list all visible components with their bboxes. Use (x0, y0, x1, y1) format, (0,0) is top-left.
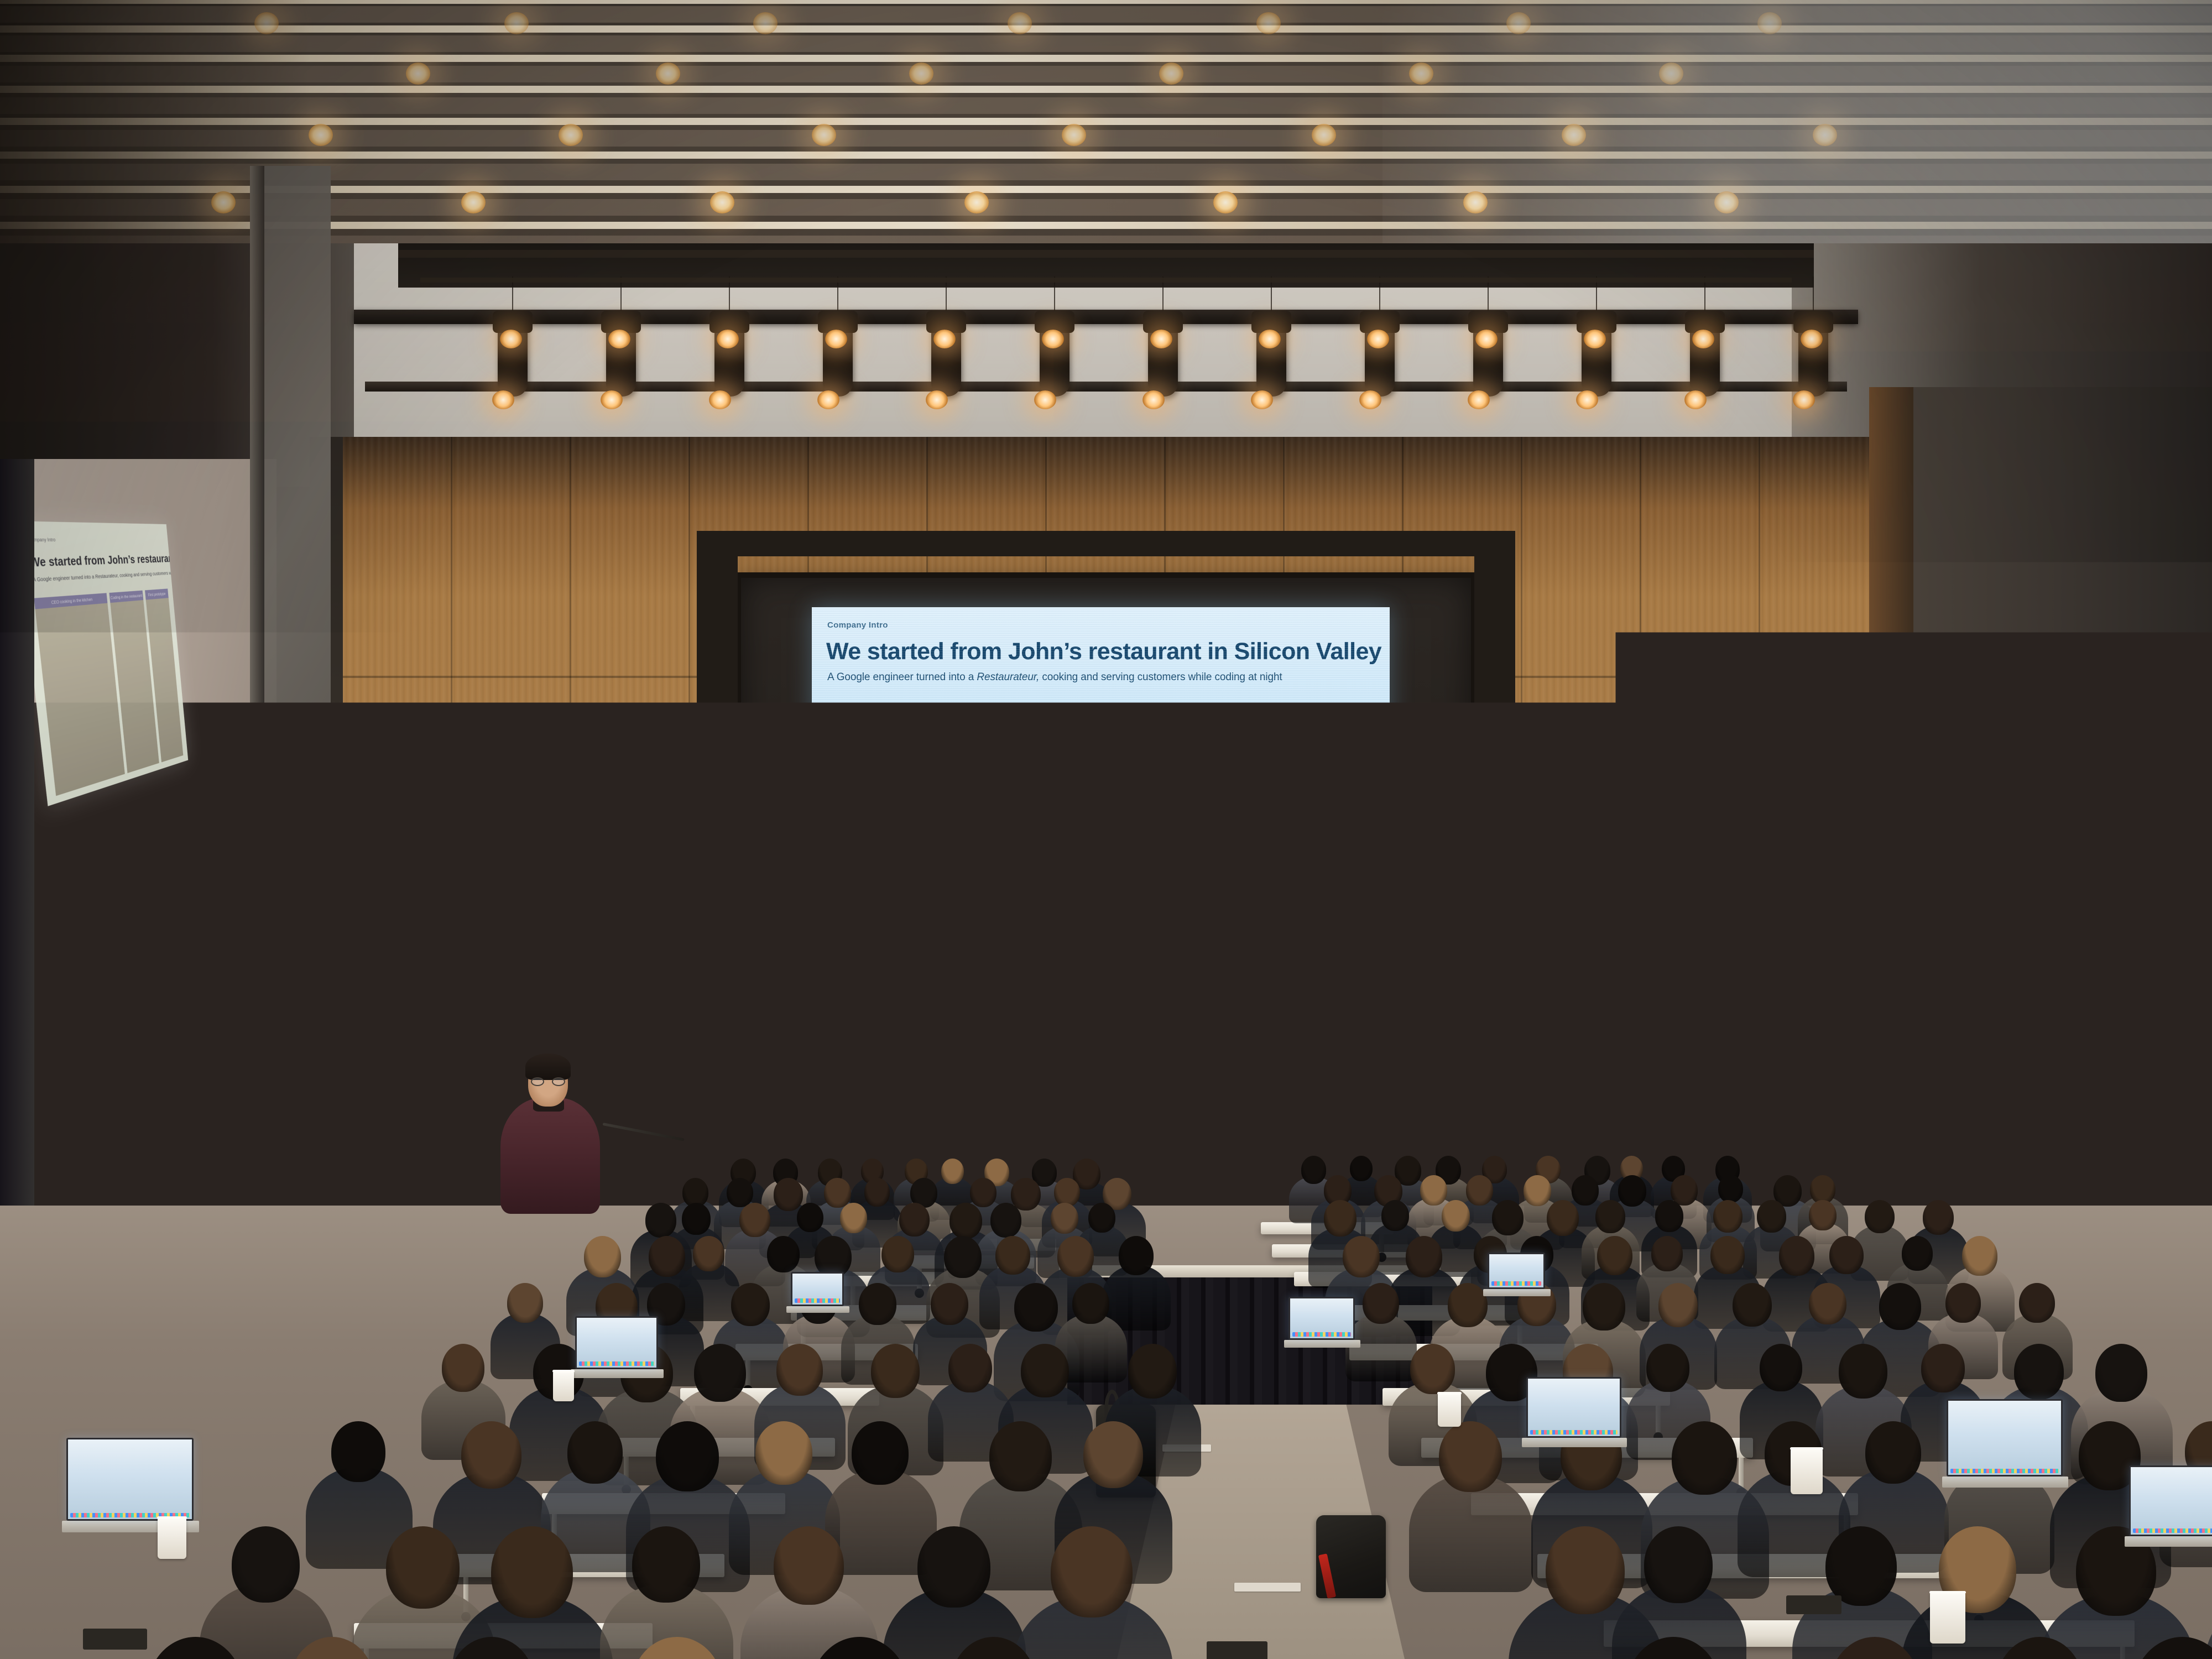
truss-wash-light (1259, 330, 1281, 348)
ceiling-downlight (1062, 124, 1086, 146)
audience-head (1363, 1283, 1399, 1324)
subtitle-part-1: A Google engineer turned into a (827, 671, 977, 683)
audience-head (1962, 1236, 1997, 1276)
photo-coding-restaurant: Robot Engineer CTO (1099, 729, 1248, 950)
truss-wash-light (825, 330, 847, 348)
audience-laptop[interactable] (1947, 1399, 2063, 1477)
audience-head (2132, 1637, 2212, 1659)
audience-head (774, 1526, 844, 1605)
truss-front-wash-light (817, 390, 839, 409)
audience-head (1809, 1200, 1836, 1230)
slide-content: Company Intro We started from John’s res… (812, 607, 1390, 950)
audience-head (1057, 1236, 1094, 1277)
laptop-base (1483, 1289, 1551, 1296)
audience-laptop[interactable] (1488, 1253, 1545, 1289)
audience-head (1825, 1526, 1897, 1606)
laptop-base (2125, 1536, 2212, 1547)
audience-head (1865, 1200, 1895, 1233)
ceiling-slat (0, 6, 2212, 23)
photo-ceo-cooking (826, 729, 1092, 950)
ceiling (0, 0, 2212, 260)
room-status-chip (2100, 1133, 2117, 1140)
ceiling-downlight (461, 191, 486, 213)
audience-head (989, 1421, 1052, 1491)
presentation-screen[interactable]: Company Intro We started from John’s res… (812, 607, 1390, 950)
audience-head (631, 1637, 723, 1659)
smartphone[interactable] (1207, 1641, 1267, 1659)
audience-head (948, 1344, 992, 1392)
truss-front-wash-light (1359, 390, 1381, 409)
audience-head (232, 1526, 300, 1603)
audience-head (1713, 1200, 1743, 1233)
audience-head (331, 1421, 386, 1482)
left-glass-pane (264, 166, 331, 1217)
audience-head (1324, 1200, 1357, 1237)
audience-head (1119, 1236, 1154, 1275)
audience-head (951, 1637, 1036, 1659)
audience-head (1718, 1175, 1743, 1203)
audience-head (1088, 1203, 1115, 1233)
audience-head (1651, 1236, 1683, 1271)
audience-head (776, 1344, 823, 1396)
photo-first-prototype (1255, 729, 1378, 950)
audience-laptop[interactable] (1288, 1297, 1355, 1340)
paper-coffee-cup (1791, 1449, 1823, 1494)
audience-head (2019, 1283, 2055, 1323)
truss-front-wash-light (1034, 390, 1056, 409)
audience-head (1051, 1203, 1078, 1234)
audience-head (731, 1283, 770, 1326)
laptop-base (571, 1369, 664, 1378)
truss-wash-light (1692, 330, 1714, 348)
truss-wash-light (1042, 330, 1064, 348)
laptop-base (1942, 1477, 2068, 1488)
audience-head (944, 1236, 982, 1278)
ceiling-slat (0, 186, 2212, 193)
audience-head (2095, 1344, 2147, 1402)
ceiling-downlight (406, 62, 430, 85)
audience-head (1672, 1421, 1738, 1495)
speaker-torso (500, 1098, 600, 1214)
warning-triangle-icon (1332, 1026, 1342, 1035)
truss-front-wash-light (1793, 390, 1815, 409)
truss-front-wash-light (1468, 390, 1490, 409)
audience-head (859, 1283, 896, 1325)
truss-front-wash-light (1576, 390, 1598, 409)
audience-member (248, 1637, 417, 1659)
audience-head (386, 1526, 460, 1609)
audience-head (1439, 1421, 1502, 1492)
truss-front-wash-light (926, 390, 948, 409)
audience-head (1829, 1637, 1920, 1659)
ceiling-slat (0, 55, 2212, 62)
laptop-base (786, 1306, 849, 1313)
audience-head (1760, 1344, 1802, 1391)
audience-head (1921, 1344, 1965, 1392)
ceiling-downlight (1409, 62, 1433, 85)
audience-head (1083, 1421, 1144, 1488)
audience-head (584, 1236, 621, 1277)
ceiling-slat (0, 222, 2212, 229)
audience-head (491, 1526, 573, 1618)
slide-subtitle: A Google engineer turned into a Restaura… (827, 671, 1379, 684)
audience-head (1733, 1283, 1772, 1327)
audience-head (461, 1421, 521, 1489)
audience-head (1448, 1283, 1487, 1327)
audience-head (1644, 1526, 1713, 1603)
audience-laptop[interactable] (2129, 1465, 2212, 1536)
smartphone[interactable] (1786, 1595, 1841, 1614)
smartphone[interactable] (83, 1629, 147, 1650)
audience-head (1655, 1200, 1684, 1232)
audience-head (1923, 1200, 1954, 1235)
lighting-truss-bar (354, 310, 1858, 324)
ceiling-downlight (1213, 191, 1238, 213)
ceiling-slat (0, 152, 2212, 159)
network-issue-badge: Network issue (1328, 1023, 1418, 1039)
audience-laptop[interactable] (66, 1438, 194, 1521)
subtitle-part-2: cooking and serving customers while codi… (1039, 671, 1282, 683)
audience-head (840, 1203, 867, 1233)
audience-head (682, 1203, 711, 1235)
audience-head (990, 1203, 1021, 1238)
truss-wash-light (1584, 330, 1606, 348)
truss-wash-light (1150, 330, 1172, 348)
audience-head (1547, 1200, 1579, 1236)
ceiling-downlight (909, 62, 933, 85)
ceiling-dark-beam (398, 250, 1814, 258)
slide-panel-coding-restaurant: Coding in the restaurant Robot Engineer … (1099, 708, 1248, 950)
ceiling-slat (0, 118, 2212, 125)
truss-front-wash-light (1142, 390, 1165, 409)
slide-title: We started from John’s restaurant in Sil… (826, 638, 1379, 665)
ceiling-dark-beam (420, 278, 1792, 283)
ceiling-slat (0, 25, 2212, 33)
audience-head (1343, 1236, 1380, 1277)
truss-wash-light (1801, 330, 1823, 348)
audience-head (1996, 1637, 2084, 1659)
ceiling-downlight (1463, 191, 1488, 213)
stage-left-equipment-alcove (325, 1034, 469, 1217)
ceiling-downlight (1008, 12, 1032, 34)
audience-head (1829, 1236, 1864, 1274)
wood-panel-seam (1759, 437, 1760, 1233)
led-wall-recess-frame (697, 531, 738, 1067)
auditorium-scene: Company Intro We started from John’s res… (0, 0, 2212, 1659)
audience-laptop[interactable] (1526, 1377, 1621, 1438)
audience-head (1492, 1200, 1524, 1235)
wood-panel-seam (688, 437, 690, 1233)
audience-head (507, 1283, 542, 1323)
audience-head (1410, 1344, 1455, 1394)
wood-panel-seam (1640, 437, 1641, 1233)
ceiling-downlight (964, 191, 989, 213)
ceiling-downlight (1159, 62, 1183, 85)
truss-wash-light (717, 330, 739, 348)
slide-panel-ceo-cooking: CEO cooking in the kitchen (826, 708, 1092, 950)
ceiling-downlight (656, 62, 680, 85)
panel-caption-3: First prototype (1255, 708, 1378, 729)
ceiling-downlight (710, 191, 734, 213)
truss-wash-light (933, 330, 956, 348)
audience-laptop[interactable] (791, 1272, 844, 1306)
audience-head (1014, 1283, 1058, 1332)
ceiling-downlight (1562, 124, 1586, 146)
audience-head (289, 1637, 375, 1659)
left-glass-mullion (250, 166, 264, 1217)
ceiling-downlight (812, 124, 836, 146)
ceiling-slat (0, 66, 2212, 82)
audience-head (1021, 1344, 1069, 1397)
ceiling-downlight (1312, 124, 1336, 146)
audience-head (1072, 1283, 1109, 1324)
audience-member (910, 1637, 1078, 1659)
paper-coffee-cup (158, 1518, 186, 1559)
audience-head (567, 1421, 623, 1484)
ceiling-downlight (1714, 191, 1739, 213)
wood-panel-seam (1521, 437, 1522, 1233)
side-panel-1: CEO cooking in the kitchen (34, 593, 124, 796)
ceiling-downlight (559, 124, 583, 146)
audience-head (1583, 1283, 1625, 1331)
audience-head (147, 1637, 244, 1659)
truss-front-wash-light (492, 390, 514, 409)
audience-head (1865, 1421, 1921, 1484)
audience-head (1051, 1526, 1133, 1618)
laptop-base (1522, 1438, 1627, 1447)
ceiling-downlight (1506, 12, 1531, 34)
audience-head (1839, 1344, 1888, 1399)
audience-head (442, 1344, 484, 1392)
ceiling-downlight (504, 12, 529, 34)
audience-head (852, 1421, 909, 1485)
audience-head (1595, 1200, 1625, 1233)
audience-head (1597, 1236, 1632, 1275)
exterior-window (1870, 968, 1936, 1189)
ceiling-slat (0, 35, 2212, 52)
audience-head (1757, 1200, 1786, 1233)
audience-head (1902, 1236, 1933, 1271)
audience-head (1658, 1283, 1698, 1327)
audience-head (1381, 1200, 1409, 1231)
floor-cable-cover-2 (1234, 1583, 1301, 1592)
audience-head (755, 1421, 812, 1485)
audience-member (2085, 1637, 2212, 1659)
ceiling-slat (0, 0, 2212, 4)
audience-member (588, 1637, 768, 1659)
truss-wash-light (608, 330, 630, 348)
audience-head (1809, 1283, 1846, 1324)
audience-head (1646, 1344, 1689, 1392)
audience-head (693, 1236, 724, 1271)
panel-caption-2: Coding in the restaurant (1099, 708, 1248, 729)
audience-head (1879, 1283, 1921, 1330)
window-blind (1870, 968, 1936, 1092)
led-wall-recess-frame (1474, 531, 1515, 1067)
truss-cable (1813, 276, 1814, 311)
slide-eyebrow: Company Intro (827, 620, 888, 630)
audience-head (739, 1203, 770, 1237)
audience-head (1810, 1175, 1835, 1204)
left-wall-dark-column (0, 459, 34, 1233)
ceiling-slat (0, 86, 2212, 93)
side-slide-title: We started from John’s restaurant in Sil… (29, 552, 167, 570)
truss-wash-light (500, 330, 522, 348)
photo-label-robot-engineer: Robot Engineer (1191, 890, 1217, 912)
audience-head (917, 1526, 990, 1608)
ceiling-downlight (309, 124, 333, 146)
truss-front-wash-light (1684, 390, 1707, 409)
paper-coffee-cup (1438, 1394, 1461, 1427)
ceiling-slat (0, 97, 2212, 114)
truss-front-wash-light (601, 390, 623, 409)
ceiling-slat (0, 164, 2212, 180)
audience-head (2014, 1344, 2064, 1400)
audience-head (767, 1236, 800, 1272)
audience-head (881, 1236, 914, 1272)
audience-head (931, 1283, 968, 1325)
audience-head (656, 1421, 719, 1491)
audience-head (810, 1637, 909, 1659)
speaker-hair (525, 1053, 571, 1080)
speaker-glasses-icon (531, 1077, 565, 1086)
network-issue-label: Network issue (1344, 1025, 1413, 1037)
audience-laptop[interactable] (575, 1316, 658, 1369)
ceiling-downlight (1256, 12, 1281, 34)
ceiling-downlight (1757, 12, 1782, 34)
audience-head (1945, 1283, 1981, 1323)
audience-head (1626, 1637, 1721, 1659)
audience-head (899, 1203, 930, 1237)
audience-head (1710, 1236, 1745, 1274)
audience-head (871, 1344, 920, 1398)
paper-coffee-cup (1930, 1593, 1965, 1644)
truss-wash-light (1475, 330, 1498, 348)
audience-head (1128, 1344, 1177, 1399)
audience-head (632, 1526, 700, 1603)
exterior-building (1878, 1096, 1928, 1189)
truss-front-wash-light (1251, 390, 1273, 409)
laptop-base (1284, 1340, 1360, 1348)
audience-head (694, 1344, 746, 1402)
audience-head (1406, 1236, 1443, 1277)
audience-head (995, 1236, 1030, 1275)
ceiling-downlight (1659, 62, 1683, 85)
audience-head (448, 1637, 535, 1659)
panel-caption-1: CEO cooking in the kitchen (826, 708, 1092, 729)
room-schedule-panel[interactable] (2064, 1099, 2129, 1180)
slide-photo-panels: CEO cooking in the kitchen Coding in the… (826, 708, 1378, 950)
led-wall-recess-frame (697, 531, 1515, 556)
lighting-truss-bar-lower (365, 382, 1847, 392)
audience-head (797, 1203, 823, 1232)
audience-member (1581, 1637, 1768, 1659)
ceiling-downlight (753, 12, 778, 34)
side-slide-panels: CEO cooking in the kitchen Coding in the… (34, 588, 183, 796)
side-slide-subtitle: A Google engineer turned into a Restaura… (33, 571, 169, 583)
audience-head (1442, 1200, 1470, 1232)
truss-front-wash-light (709, 390, 731, 409)
slide-panel-first-prototype: First prototype (1255, 708, 1378, 950)
ceiling-downlight (1813, 124, 1837, 146)
truss-wash-light (1367, 330, 1389, 348)
photo-label-cto: CTO (1139, 928, 1159, 943)
subtitle-italic-restaurateur: Restaurateur, (977, 671, 1039, 683)
paper-coffee-cup (553, 1371, 574, 1401)
ceiling-slat (0, 199, 2212, 216)
audience-head (1779, 1236, 1814, 1276)
audience-member (406, 1637, 578, 1659)
